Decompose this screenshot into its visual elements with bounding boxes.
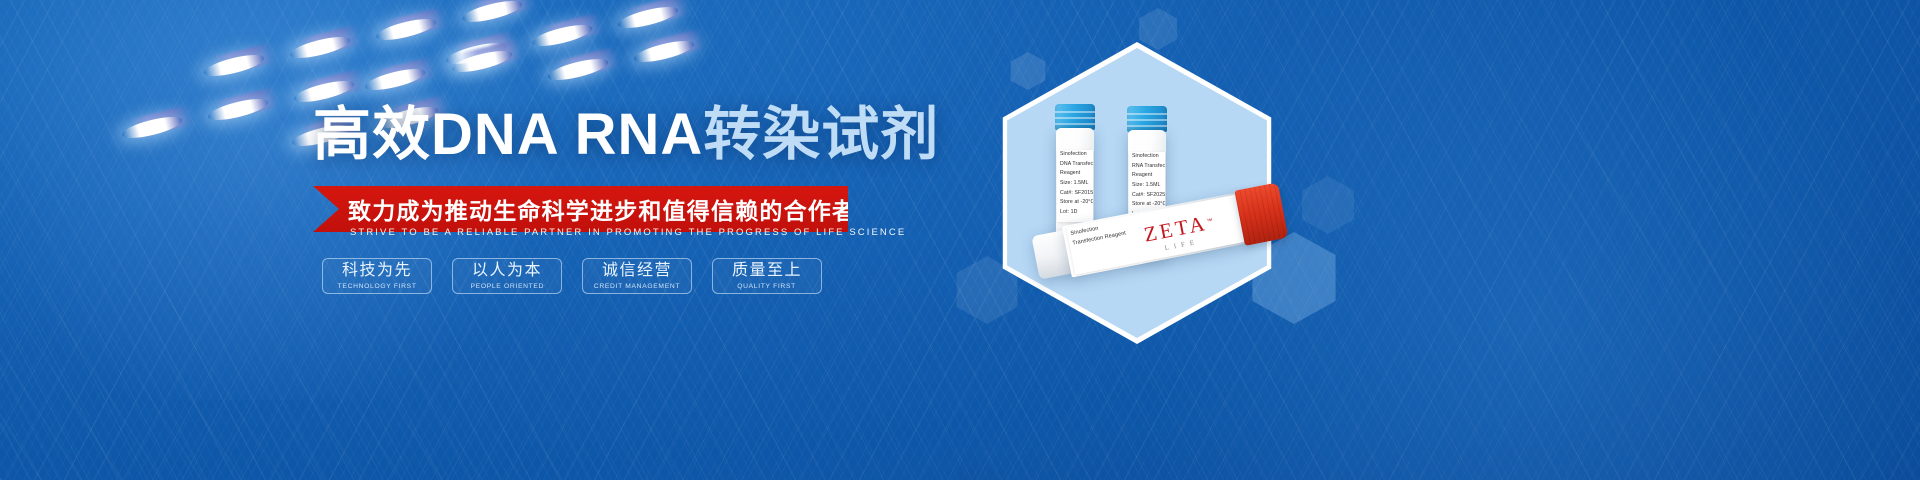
vial-front-red-cap-ridges	[1234, 182, 1288, 245]
vial-label-line: Sinofection	[1129, 152, 1165, 162]
feature-pill-label-en: TECHNOLOGY FIRST	[338, 283, 417, 290]
vial-label-line: Size: 1.5ML	[1057, 179, 1093, 189]
product-showcase: Sinofection DNA Transfection Reagent Siz…	[960, 0, 1920, 480]
feature-pill-people[interactable]: 以人为本 PEOPLE ORIENTED	[452, 258, 562, 294]
page-title: 高效DNA RNA转染试剂	[313, 104, 939, 167]
vial-label-line: Cat#: SF201510	[1057, 189, 1093, 199]
feature-pill-label-cn: 以人为本	[472, 263, 542, 279]
feature-pill-quality[interactable]: 质量至上 QUALITY FIRST	[712, 258, 822, 294]
page-title-secondary: 转染试剂	[703, 102, 939, 167]
vial-label-line: Reagent	[1129, 171, 1165, 181]
decorative-hexagon-small-top	[1136, 8, 1180, 50]
trademark-icon: ™	[1206, 218, 1213, 225]
feature-pill-label-cn: 诚信经营	[602, 263, 672, 279]
feature-pill-label-cn: 科技为先	[342, 263, 412, 279]
feature-pill-label-en: QUALITY FIRST	[738, 283, 797, 290]
feature-pill-label-cn: 质量至上	[732, 263, 802, 279]
vial-label-line: Reagent	[1057, 169, 1093, 179]
feature-pill-label-en: CREDIT MANAGEMENT	[594, 283, 680, 290]
tagline-chinese: 致力成为推动生命科学进步和值得信赖的合作者	[348, 192, 856, 226]
promo-banner: 高效DNA RNA转染试剂 致力成为推动生命科学进步和值得信赖的合作者 STRI…	[0, 0, 1920, 480]
banner-text-column: 高效DNA RNA转染试剂 致力成为推动生命科学进步和值得信赖的合作者 STRI…	[0, 0, 960, 480]
feature-pill-list: 科技为先 TECHNOLOGY FIRST 以人为本 PEOPLE ORIENT…	[322, 258, 822, 294]
vial-right-cap	[1127, 106, 1167, 132]
vial-label-line: DNA Transfection	[1057, 160, 1093, 170]
tagline-ribbon: 致力成为推动生命科学进步和值得信赖的合作者	[313, 186, 848, 232]
vial-label-line: RNA Transfection	[1129, 162, 1165, 172]
vial-left-cap	[1055, 104, 1095, 130]
feature-pill-technology[interactable]: 科技为先 TECHNOLOGY FIRST	[322, 258, 432, 294]
decorative-hexagon-outline-right	[1298, 176, 1358, 234]
feature-pill-label-en: PEOPLE ORIENTED	[470, 283, 544, 290]
decorative-hexagon-small-left	[1008, 52, 1048, 90]
feature-pill-credit[interactable]: 诚信经营 CREDIT MANAGEMENT	[582, 258, 692, 294]
page-title-primary: 高效DNA RNA	[313, 102, 703, 167]
tagline-english: STRIVE TO BE A RELIABLE PARTNER IN PROMO…	[350, 227, 906, 238]
vial-label-line: Size: 1.5ML	[1129, 181, 1165, 191]
vial-label-line: Sinofection	[1057, 150, 1093, 160]
